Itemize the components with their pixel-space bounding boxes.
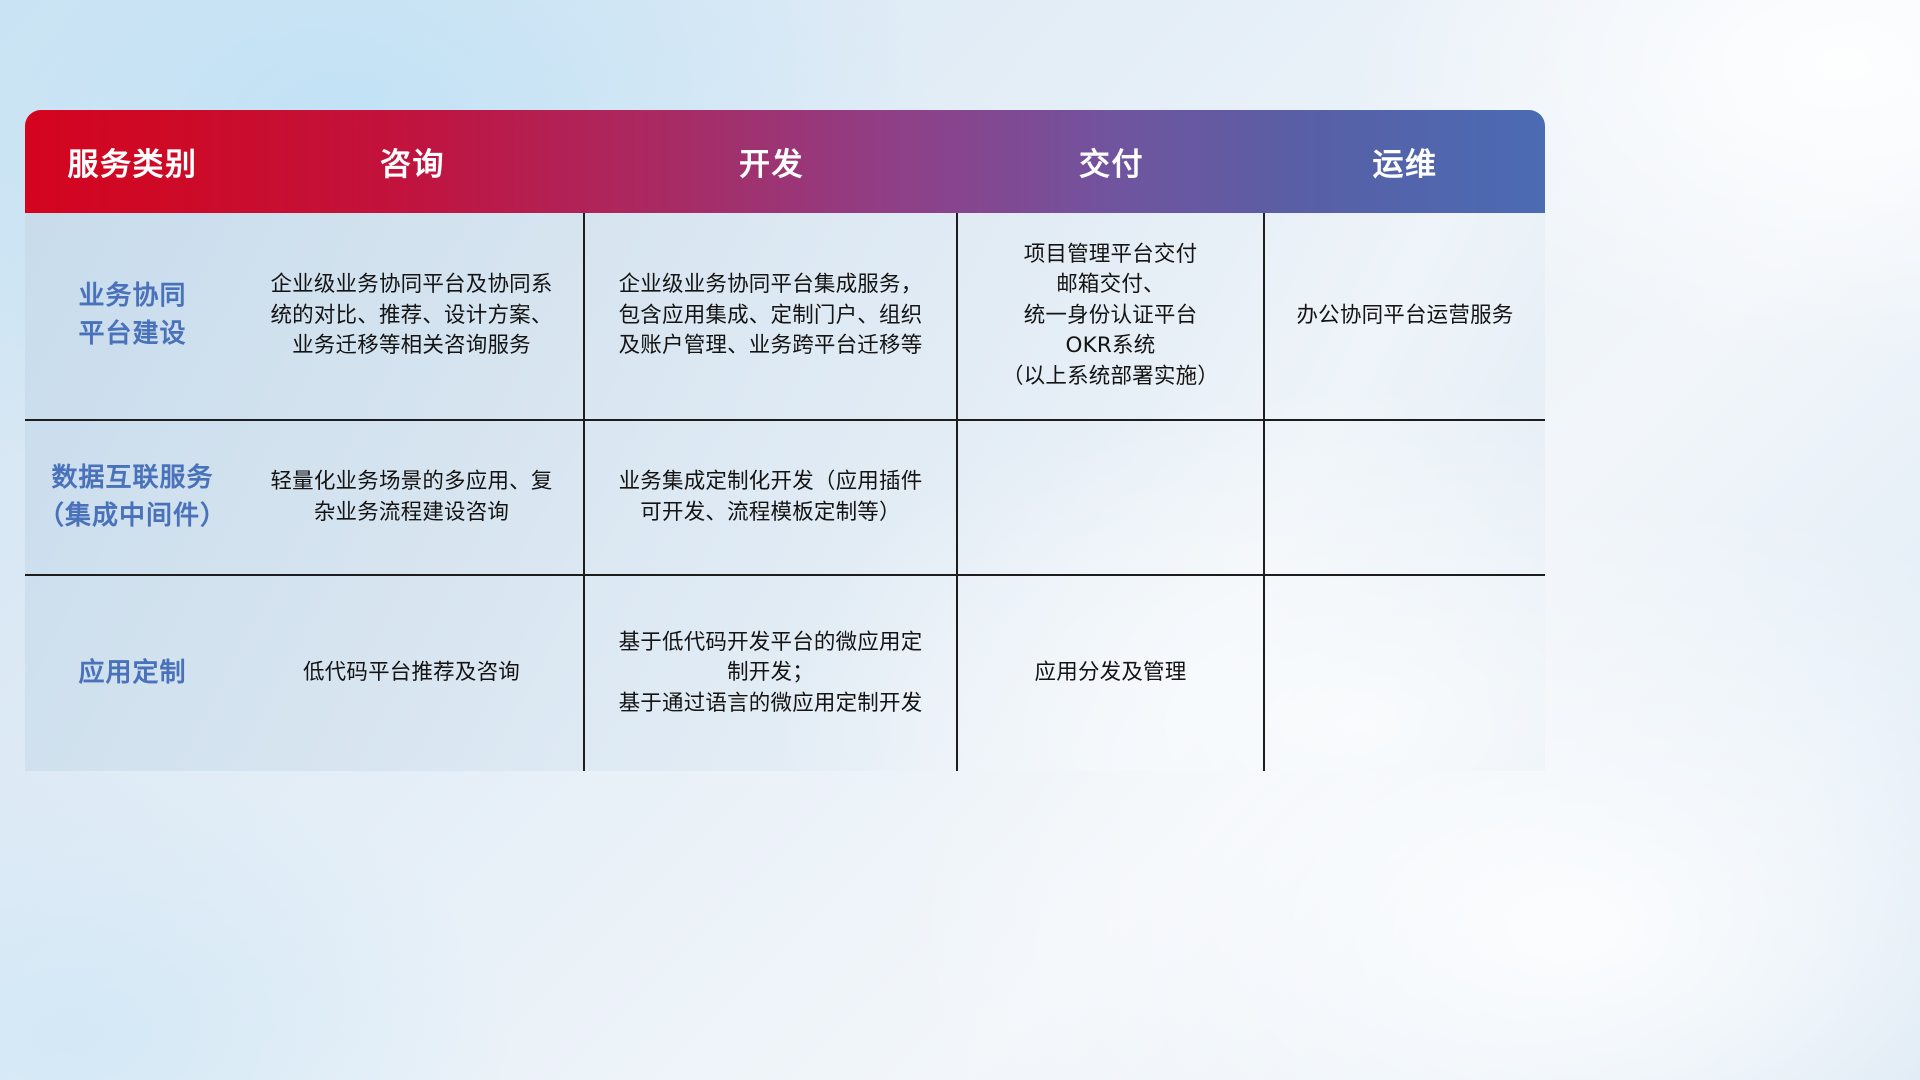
table-row: 应用定制 低代码平台推荐及咨询 基于低代码开发平台的微应用定 制开发； 基于通过…: [25, 576, 1545, 771]
header-cell-category: 服务类别: [25, 110, 240, 213]
cell-operations-row3: [1265, 576, 1545, 771]
header-cell-delivery: 交付: [958, 110, 1265, 213]
table-row: 数据互联服务 （集成中间件） 轻量化业务场景的多应用、复 杂业务流程建设咨询 业…: [25, 421, 1545, 576]
row-label-data-interconnect: 数据互联服务 （集成中间件）: [25, 421, 240, 574]
header-cell-operations: 运维: [1265, 110, 1545, 213]
service-matrix-table: 服务类别 咨询 开发 交付 运维 业务协同 平台建设 企业级业务协同平台及协同系…: [25, 110, 1545, 771]
table-body: 业务协同 平台建设 企业级业务协同平台及协同系 统的对比、推荐、设计方案、 业务…: [25, 213, 1545, 771]
cell-development-row2: 业务集成定制化开发（应用插件 可开发、流程模板定制等）: [585, 421, 958, 574]
cell-operations-row2: [1265, 421, 1545, 574]
cell-consulting-row1: 企业级业务协同平台及协同系 统的对比、推荐、设计方案、 业务迁移等相关咨询服务: [240, 213, 585, 419]
cell-delivery-row1: 项目管理平台交付 邮箱交付、 统一身份认证平台 OKR系统 （以上系统部署实施）: [958, 213, 1265, 419]
cell-consulting-row2: 轻量化业务场景的多应用、复 杂业务流程建设咨询: [240, 421, 585, 574]
cell-delivery-row2: [958, 421, 1265, 574]
cell-delivery-row3: 应用分发及管理: [958, 576, 1265, 771]
header-cell-consulting: 咨询: [240, 110, 585, 213]
table-row: 业务协同 平台建设 企业级业务协同平台及协同系 统的对比、推荐、设计方案、 业务…: [25, 213, 1545, 421]
table-header-row: 服务类别 咨询 开发 交付 运维: [25, 110, 1545, 213]
cell-development-row1: 企业级业务协同平台集成服务， 包含应用集成、定制门户、组织 及账户管理、业务跨平…: [585, 213, 958, 419]
header-cell-development: 开发: [585, 110, 958, 213]
cell-consulting-row3: 低代码平台推荐及咨询: [240, 576, 585, 771]
cell-development-row3: 基于低代码开发平台的微应用定 制开发； 基于通过语言的微应用定制开发: [585, 576, 958, 771]
row-label-business-collaboration: 业务协同 平台建设: [25, 213, 240, 419]
cell-operations-row1: 办公协同平台运营服务: [1265, 213, 1545, 419]
row-label-application-customization: 应用定制: [25, 576, 240, 771]
